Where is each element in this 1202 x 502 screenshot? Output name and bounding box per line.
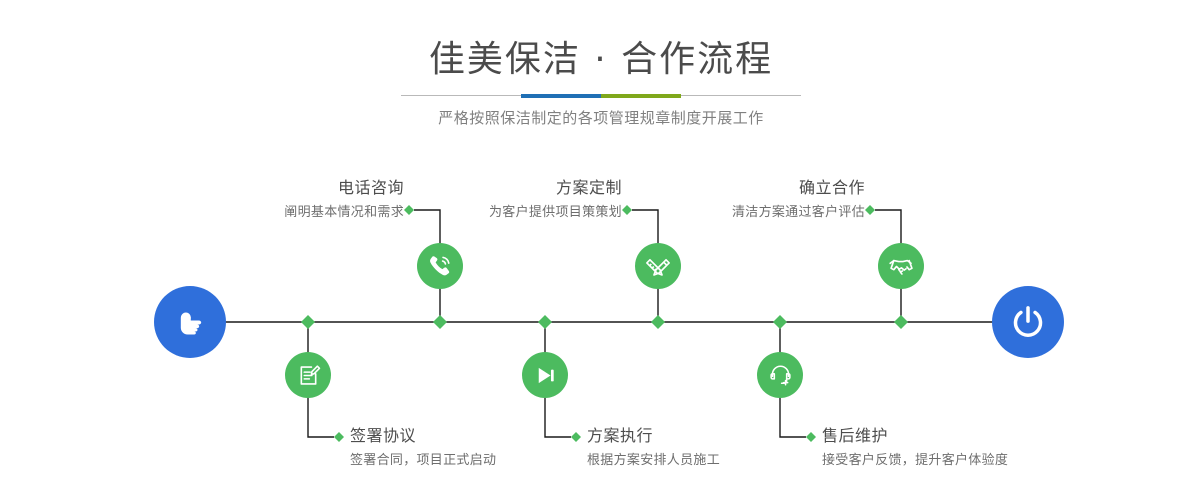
pencil-ruler-icon [644, 252, 672, 280]
step-label-6: 售后维护 接受客户反馈，提升客户体验度 [822, 426, 1182, 470]
hand-pointing-icon [169, 301, 211, 343]
step-label-5: 确立合作 清洁方案通过客户评估 [545, 178, 865, 222]
step-badge-3[interactable] [635, 243, 681, 289]
axis-node-4 [538, 315, 552, 329]
play-execute-icon [532, 362, 559, 389]
axis-node-2 [301, 315, 315, 329]
axis-node-5 [894, 315, 908, 329]
step-badge-1[interactable] [417, 243, 463, 289]
page-subtitle: 严格按照保洁制定的各项管理规章制度开展工作 [0, 107, 1202, 129]
page-header: 佳美保洁 · 合作流程 严格按照保洁制定的各项管理规章制度开展工作 [0, 0, 1202, 145]
divider-blue-segment [521, 94, 601, 98]
flow-infographic-page: 佳美保洁 · 合作流程 严格按照保洁制定的各项管理规章制度开展工作 [0, 0, 1202, 502]
label-bullet-5 [865, 205, 875, 215]
headset-support-icon [767, 362, 794, 389]
flow-start-badge[interactable] [154, 286, 226, 358]
step-desc-6: 接受客户反馈，提升客户体验度 [822, 451, 1182, 470]
document-sign-icon [295, 362, 322, 389]
flow-end-badge[interactable] [992, 286, 1064, 358]
step-badge-6[interactable] [757, 352, 803, 398]
handshake-icon [887, 252, 916, 281]
step-badge-2[interactable] [285, 352, 331, 398]
label-bullet-diamonds [334, 205, 875, 442]
process-flow-diagram: 电话咨询 阐明基本情况和需求 方案定制 为客户提供项目策策划 确立合作 清洁方案… [0, 145, 1202, 502]
title-divider [401, 94, 801, 98]
phone-call-icon [426, 252, 454, 280]
step-desc-5: 清洁方案通过客户评估 [545, 203, 865, 222]
power-icon [1008, 302, 1048, 342]
axis-node-3 [651, 315, 665, 329]
step-badge-4[interactable] [522, 352, 568, 398]
axis-node-1 [433, 315, 447, 329]
page-title: 佳美保洁 · 合作流程 [0, 38, 1202, 82]
step-title-6: 售后维护 [822, 426, 1182, 446]
step-badge-5[interactable] [878, 243, 924, 289]
axis-node-6 [773, 315, 787, 329]
step-title-5: 确立合作 [545, 178, 865, 198]
divider-green-segment [601, 94, 681, 98]
label-bullet-2 [334, 432, 344, 442]
